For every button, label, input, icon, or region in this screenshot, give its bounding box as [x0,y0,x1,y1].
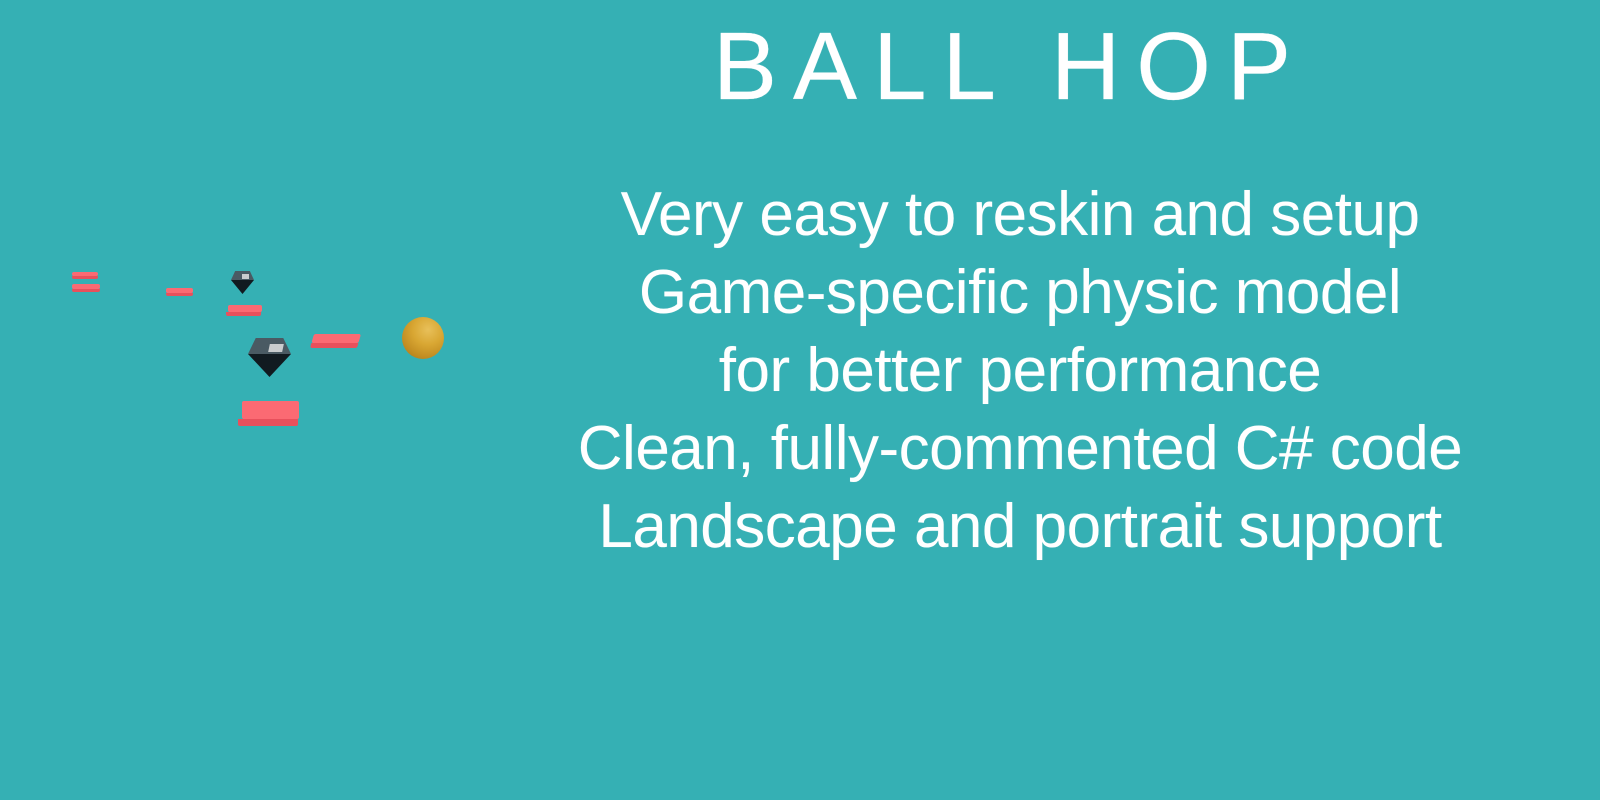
platform-top-face [311,334,361,343]
platform-top-face [242,401,299,419]
platform-edge-face [310,343,358,348]
platform [310,334,361,348]
platform-edge-face [226,312,261,316]
page-title: BALL HOP [560,14,1460,120]
gem-highlight-facet [268,344,284,352]
feature-line: Very easy to reskin and setup [520,176,1520,254]
gem-highlight-facet [242,274,249,279]
platform-top-face [228,305,262,312]
player-ball [402,317,444,359]
feature-line: Clean, fully-commented C# code [520,410,1520,488]
gem-pavilion-facet [248,354,291,377]
platform [72,272,98,279]
platform-edge-face [72,276,98,279]
feature-line: for better performance [520,332,1520,410]
game-art-scene [0,0,520,600]
gem [231,271,254,294]
platform [242,401,299,426]
platform [72,284,100,292]
platform-edge-face [166,293,193,296]
platform-badge-row: unityAds AdMob by Google IAP [0,600,1600,800]
feature-list: Very easy to reskin and setup Game-speci… [520,176,1520,566]
platform-edge-face [72,289,100,292]
gem-pavilion-facet [231,280,254,294]
promo-banner: BALL HOP Very easy to reskin and setup G… [0,0,1600,800]
feature-line: Game-specific physic model [520,254,1520,332]
feature-line: Landscape and portrait support [520,488,1520,566]
platform-edge-face [238,419,298,426]
platform [166,288,193,296]
platform [228,305,262,316]
gem [248,338,291,377]
